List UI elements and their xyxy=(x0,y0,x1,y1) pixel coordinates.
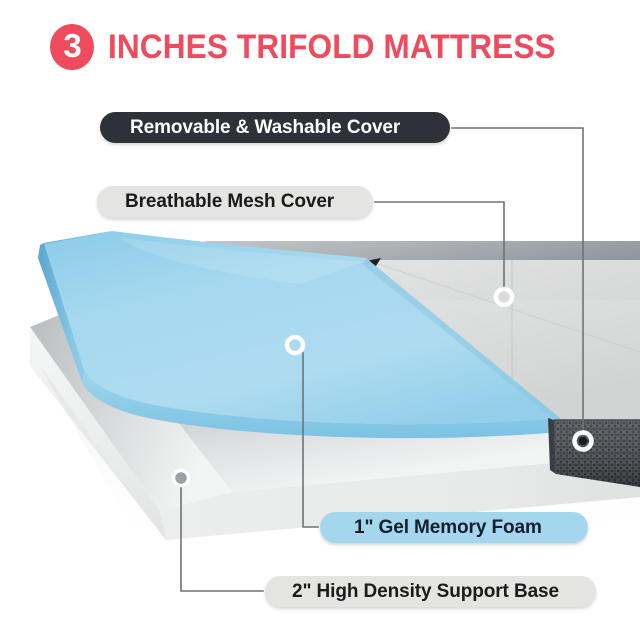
top-cover-panel xyxy=(330,258,640,422)
mattress-infographic: 3 INCHES TRIFOLD MATTRESS xyxy=(0,0,640,640)
connector-breathable-mesh-cover xyxy=(375,202,504,290)
connector-removable-washable-cover xyxy=(452,128,583,436)
callout-label-gel-memory-foam[interactable]: 1" Gel Memory Foam xyxy=(320,512,588,543)
gel-memory-foam-layer xyxy=(38,231,560,438)
page-title: 3 INCHES TRIFOLD MATTRESS xyxy=(0,18,640,76)
connector-high-density-support-base xyxy=(181,484,263,591)
callout-label-breathable-mesh-cover[interactable]: Breathable Mesh Cover xyxy=(97,186,373,218)
callout-markers xyxy=(174,289,592,486)
marker-gel-memory-foam xyxy=(287,337,303,353)
callout-label-high-density-support-base[interactable]: 2" High Density Support Base xyxy=(265,576,596,607)
callout-label-removable-washable-cover[interactable]: Removable & Washable Cover xyxy=(100,112,450,143)
marker-breathable-mesh-cover xyxy=(496,289,512,305)
marker-high-density-support-base xyxy=(174,471,189,486)
marker-removable-washable-cover xyxy=(575,433,592,450)
connector-gel-memory-foam xyxy=(303,353,318,527)
mattress-illustration xyxy=(0,0,640,640)
page-title-text: INCHES TRIFOLD MATTRESS xyxy=(108,28,556,67)
inches-badge: 3 xyxy=(50,24,94,70)
mesh-side-panel xyxy=(548,418,640,487)
